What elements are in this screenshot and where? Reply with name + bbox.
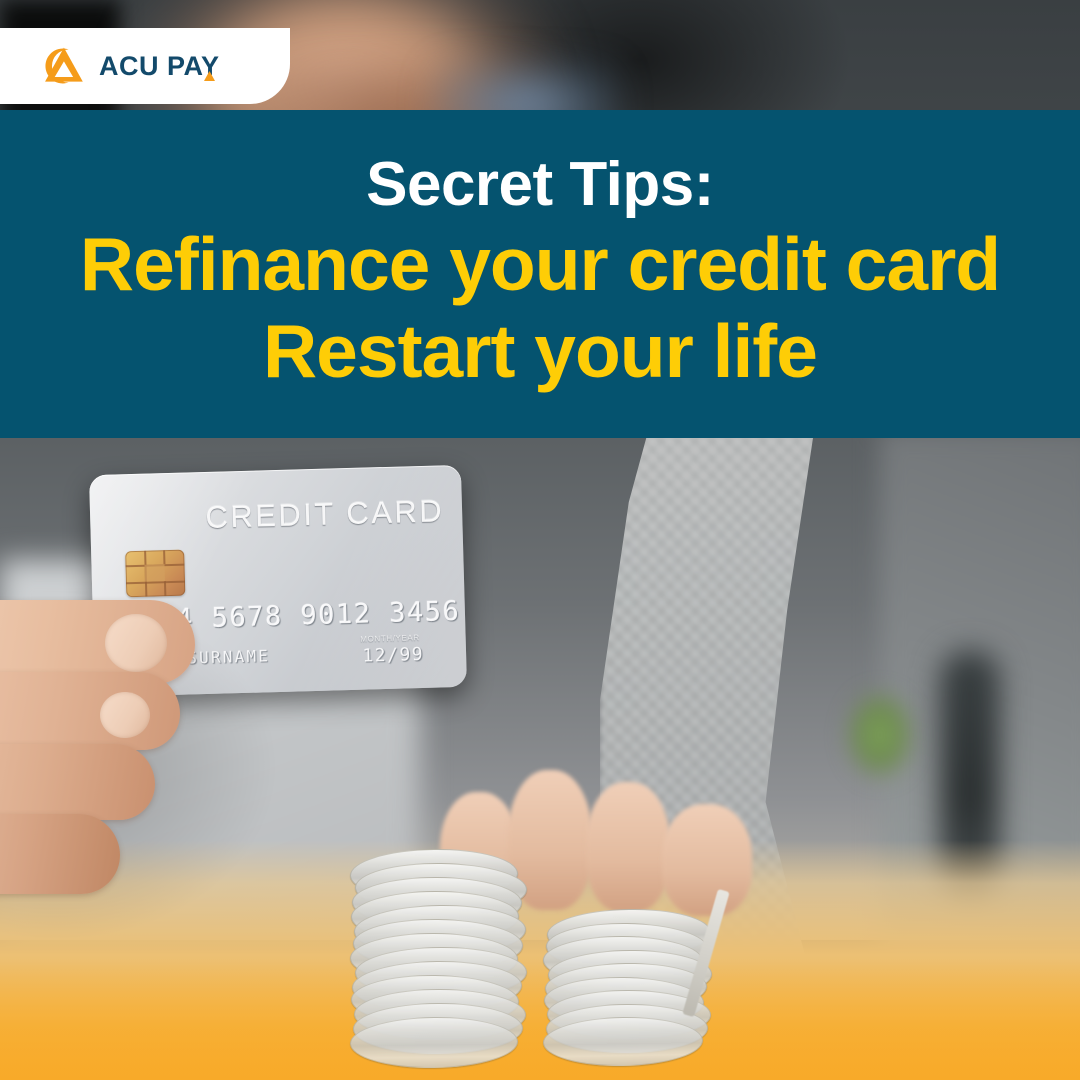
ring-finger xyxy=(0,744,155,820)
headline-line-1: Secret Tips: xyxy=(366,153,714,216)
pay-a-orange-accent-icon xyxy=(202,71,217,81)
coin xyxy=(349,1016,518,1069)
brand-wordmark: ACU PAY xyxy=(99,51,220,82)
fingernail xyxy=(105,614,167,672)
little-finger xyxy=(0,814,120,894)
fingernail-2 xyxy=(100,692,150,738)
left-hand xyxy=(0,600,260,930)
brand-name-acu: ACU xyxy=(99,51,159,82)
promo-poster: CREDIT CARD 1234 5678 9012 3456 NAME SUR… xyxy=(0,0,1080,1080)
card-expiry-label: MONTH/YEAR xyxy=(360,633,420,644)
green-background-blur xyxy=(845,690,915,780)
headline-banner: Secret Tips: Refinance your credit card … xyxy=(0,110,1080,438)
card-brand-label: CREDIT CARD xyxy=(205,493,445,536)
headline-line-2: Refinance your credit card xyxy=(80,227,1000,302)
emv-chip-icon xyxy=(125,550,185,598)
card-expiry-value: 12/99 xyxy=(362,644,424,667)
brand-logo-tab[interactable]: ACU PAY xyxy=(0,28,290,104)
acupay-a-circle-logo-icon xyxy=(40,43,86,89)
coin-stack-left xyxy=(352,868,527,1068)
brand-name-pay: PAY xyxy=(167,51,220,82)
headline-line-3: Restart your life xyxy=(263,314,817,389)
middle-finger xyxy=(0,672,180,750)
